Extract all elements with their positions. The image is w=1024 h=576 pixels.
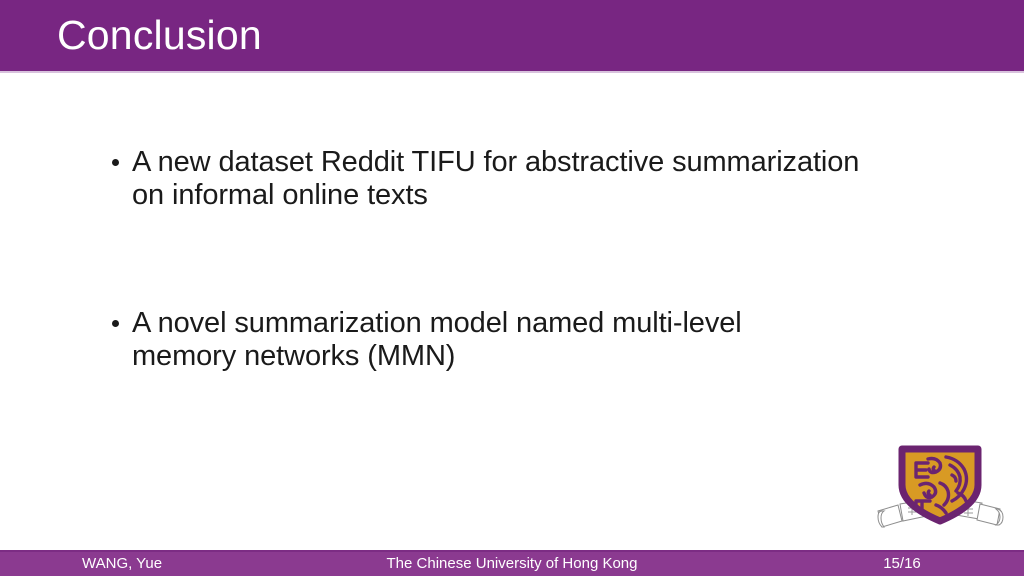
- bullet-line: A novel summarization model named multi-…: [132, 307, 950, 340]
- cuhk-logo: [872, 443, 1008, 543]
- bullet-line: A new dataset Reddit TIFU for abstractiv…: [132, 146, 950, 179]
- bullet-line: memory networks (MMN): [132, 340, 950, 373]
- bullet-dot-icon: [112, 320, 119, 327]
- page-title: Conclusion: [57, 9, 262, 61]
- bullet-dot-icon: [112, 159, 119, 166]
- list-item: A new dataset Reddit TIFU for abstractiv…: [110, 146, 950, 212]
- list-item: A novel summarization model named multi-…: [110, 307, 950, 373]
- slide-page-number: 15/16: [0, 555, 1024, 573]
- bullet-list: A new dataset Reddit TIFU for abstractiv…: [110, 73, 950, 373]
- slide-body: A new dataset Reddit TIFU for abstractiv…: [0, 73, 1024, 550]
- presentation-slide: Conclusion A new dataset Reddit TIFU for…: [0, 0, 1024, 576]
- bullet-line: on informal online texts: [132, 179, 950, 212]
- footer-bar-top-edge: [0, 550, 1024, 552]
